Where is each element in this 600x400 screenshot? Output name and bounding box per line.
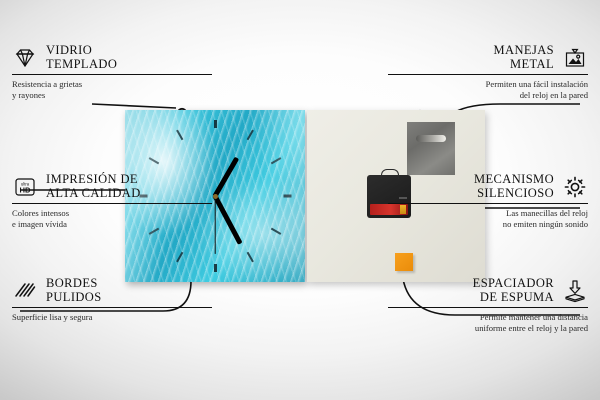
- feature-sub-line2: uniforme entre el reloj y la pared: [475, 323, 588, 333]
- feature-silent-mechanism: MECANISMO SILENCIOSO Las manecillas del …: [388, 173, 588, 229]
- clock-tick: [247, 130, 254, 141]
- hour-hand: [213, 157, 239, 198]
- feature-title-line2: PULIDOS: [46, 290, 102, 304]
- feature-sub-line1: Resistencia a grietas: [12, 79, 82, 89]
- hands-center-cap: [213, 194, 218, 199]
- clock-tick: [214, 264, 217, 272]
- divider: [388, 74, 588, 75]
- clock-tick: [149, 157, 160, 164]
- feature-metal-handles: MANEJAS METAL Permiten una fácil instala…: [388, 44, 588, 100]
- metal-hanger-plate: [407, 122, 455, 175]
- feature-title-line2: METAL: [510, 57, 554, 71]
- polished-lines-icon: [12, 278, 38, 304]
- feature-polished-edges: BORDES PULIDOS Superficie lisa y segura: [12, 277, 212, 323]
- svg-text:HD: HD: [20, 185, 31, 194]
- feature-title-line1: BORDES: [46, 276, 98, 290]
- divider: [12, 74, 212, 75]
- divider: [12, 203, 212, 204]
- framed-picture-hanging-icon: [562, 45, 588, 71]
- feature-title-line1: VIDRIO: [46, 43, 92, 57]
- feature-title-line1: IMPRESIÓN DE: [46, 172, 138, 186]
- feature-sub-line1: Colores intensos: [12, 208, 69, 218]
- clock-tick: [271, 228, 282, 235]
- divider: [12, 307, 212, 308]
- feature-title-line1: ESPACIADOR: [473, 276, 554, 290]
- feature-title-line2: TEMPLADO: [46, 57, 117, 71]
- down-arrow-onto-pad-icon: [562, 278, 588, 304]
- feature-sub-line2: e imagen vívida: [12, 219, 67, 229]
- clock-tick: [176, 130, 183, 141]
- feature-sub-line1: Permiten una fácil instalación: [486, 79, 588, 89]
- divider: [388, 307, 588, 308]
- clock-tick: [271, 157, 282, 164]
- feature-sub-line1: Superficie lisa y segura: [12, 312, 92, 322]
- connector-tempered-glass: [92, 104, 176, 108]
- feature-sub-line2: no emiten ningún sonido: [503, 219, 588, 229]
- minute-hand: [213, 195, 243, 245]
- second-hand: [214, 196, 215, 254]
- product-infographic: VIDRIO TEMPLADO Resistencia a grietas y …: [0, 0, 600, 400]
- feature-sub-line1: Permite mantener una distancia: [480, 312, 588, 322]
- feature-title-line2: SILENCIOSO: [477, 186, 554, 200]
- feature-foam-spacer: ESPACIADOR DE ESPUMA Permite mantener un…: [388, 277, 588, 333]
- feature-hd-print: ultra HD IMPRESIÓN DE ALTA CALIDAD Color…: [12, 173, 212, 229]
- ultra-hd-icon: ultra HD: [12, 174, 38, 200]
- feature-sub-line1: Las manecillas del reloj: [506, 208, 588, 218]
- foam-spacer-pad: [395, 253, 413, 271]
- gear-icon: [562, 174, 588, 200]
- divider: [388, 203, 588, 204]
- hanger-slot: [416, 135, 446, 142]
- diamond-icon: [12, 45, 38, 71]
- clock-tick: [247, 252, 254, 263]
- feature-title-line2: ALTA CALIDAD: [46, 186, 141, 200]
- feature-title-line2: DE ESPUMA: [480, 290, 554, 304]
- clock-tick: [176, 252, 183, 263]
- clock-tick: [214, 120, 217, 128]
- feature-title-line1: MANEJAS: [494, 43, 554, 57]
- feature-sub-line2: del reloj en la pared: [520, 90, 588, 100]
- feature-title-line1: MECANISMO: [474, 172, 554, 186]
- feature-sub-line2: y rayones: [12, 90, 45, 100]
- feature-tempered-glass: VIDRIO TEMPLADO Resistencia a grietas y …: [12, 44, 212, 100]
- clock-tick: [284, 195, 292, 198]
